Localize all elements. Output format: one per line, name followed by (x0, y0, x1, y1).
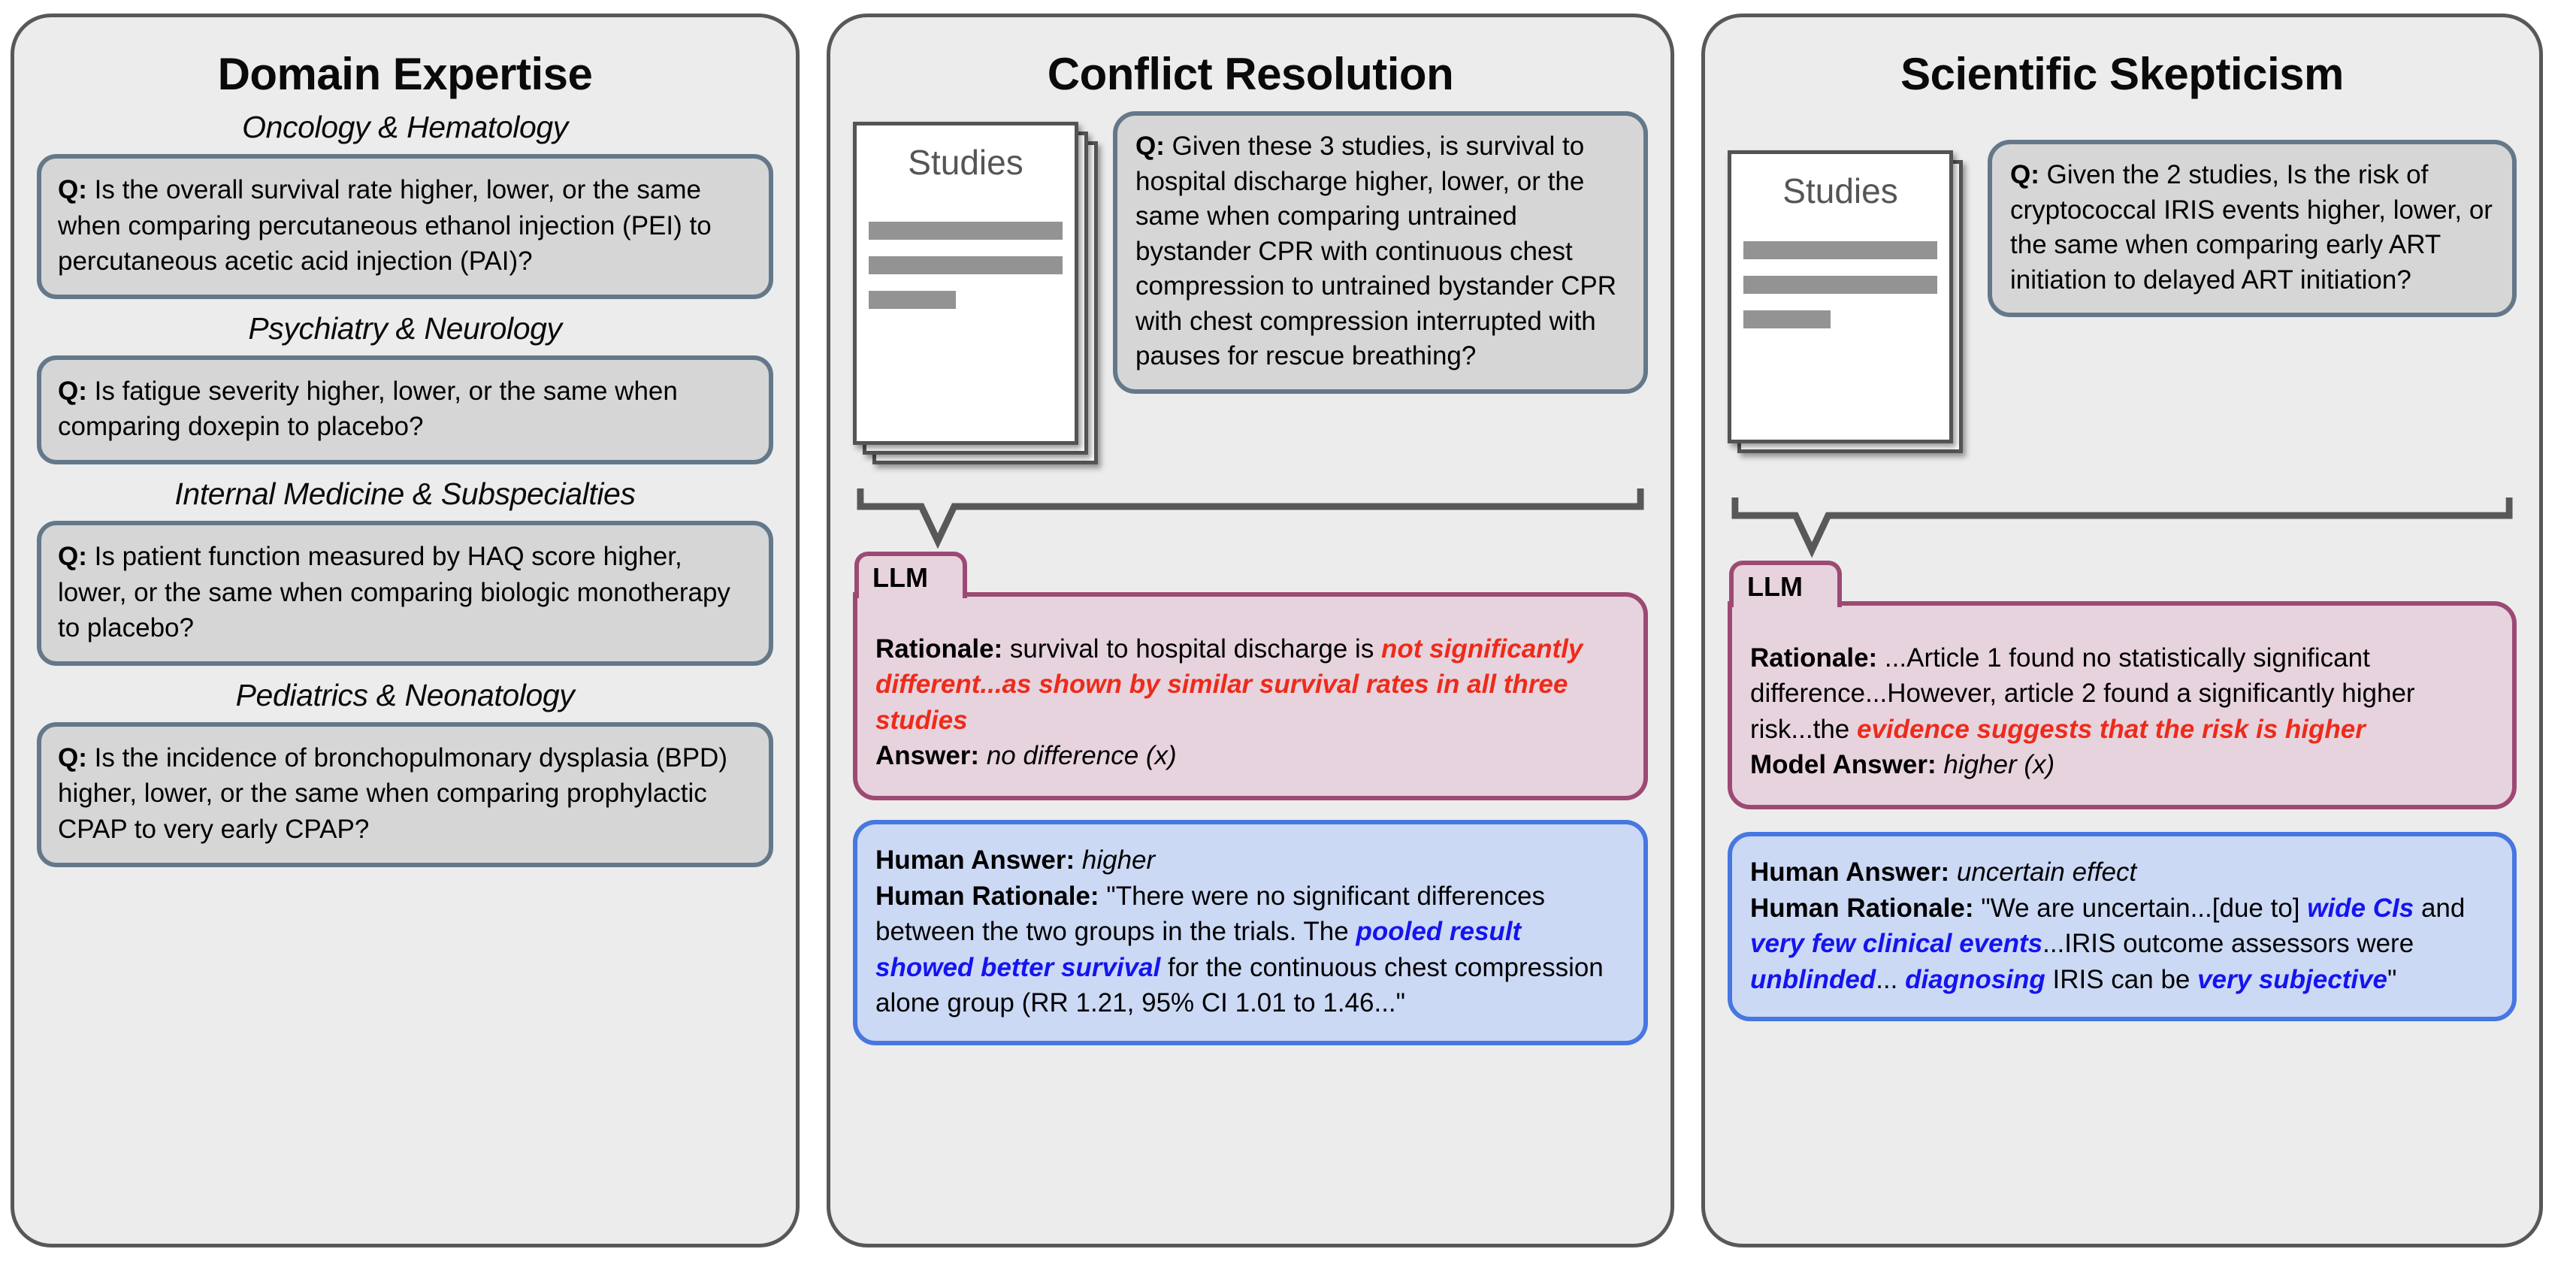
llm-response-block-conflict: LLM Rationale: survival to hospital disc… (853, 552, 1648, 800)
llm-answer-value: higher (x) (1937, 750, 2055, 779)
question-box-psychiatry: Q: Is fatigue severity higher, lower, or… (37, 355, 773, 464)
llm-rationale-label: Rationale: (1750, 643, 1877, 673)
human-rationale-highlight-2: very few clinical events (1750, 929, 2042, 958)
domain-section-oncology: Oncology & Hematology Q: Is the overall … (37, 110, 773, 299)
question-box-internal-medicine: Q: Is patient function measured by HAQ s… (37, 521, 773, 666)
question-prefix: Q: (58, 175, 87, 204)
llm-rationale-label: Rationale: (875, 634, 1002, 664)
studies-and-question-row: Studies Q: Given these 3 studies, is sur… (853, 111, 1648, 475)
human-answer-label: Human Answer: (1750, 857, 1949, 887)
llm-rationale-highlight: evidence suggests that the risk is highe… (1857, 715, 2366, 744)
human-answer-line: Human Answer: uncertain effect (1750, 854, 2493, 891)
page-title-conflict-resolution: Conflict Resolution (853, 50, 1648, 98)
human-rationale-plain-3: ...IRIS outcome assessors were (2042, 929, 2414, 958)
llm-answer-label: Model Answer: (1750, 750, 1937, 779)
studies-label: Studies (1731, 171, 1949, 211)
llm-answer-line: Model Answer: higher (x) (1750, 747, 2493, 782)
document-text-lines (857, 222, 1075, 309)
document-line (869, 222, 1063, 240)
question-box-conflict-resolution: Q: Given these 3 studies, is survival to… (1113, 111, 1648, 394)
studies-and-question-row: Studies Q: Given the 2 studies, Is the r… (1728, 140, 2517, 466)
human-rationale-line: Human Rationale: "There were no signific… (875, 878, 1624, 1021)
panel-conflict-resolution: Conflict Resolution Studies Q: Given the… (827, 14, 1674, 1247)
bracket-arrow-icon (856, 481, 1645, 550)
question-text: Is fatigue severity higher, lower, or th… (58, 376, 678, 442)
human-response-box-skepticism: Human Answer: uncertain effect Human Rat… (1728, 832, 2517, 1021)
document-line (1743, 276, 1937, 294)
human-answer-value: uncertain effect (1949, 857, 2136, 887)
document-sheet-front: Studies (853, 122, 1078, 445)
domain-label-pediatrics: Pediatrics & Neonatology (37, 678, 773, 713)
domain-section-psychiatry: Psychiatry & Neurology Q: Is fatigue sev… (37, 311, 773, 464)
llm-answer-line: Answer: no difference (x) (875, 738, 1624, 773)
human-rationale-highlight-3: unblinded (1750, 965, 1876, 994)
question-text: Given the 2 studies, Is the risk of cryp… (2010, 160, 2493, 295)
document-line (869, 256, 1063, 274)
question-box-scientific-skepticism: Q: Given the 2 studies, Is the risk of c… (1988, 140, 2517, 317)
human-rationale-highlight-4: diagnosing (1905, 965, 2045, 994)
llm-body-skepticism: Rationale: ...Article 1 found no statist… (1728, 601, 2517, 809)
studies-stack-icon: Studies (1728, 150, 1968, 466)
human-rationale-line: Human Rationale: "We are uncertain...[du… (1750, 891, 2493, 998)
page-title-scientific-skepticism: Scientific Skepticism (1728, 50, 2517, 98)
question-box-oncology: Q: Is the overall survival rate higher, … (37, 154, 773, 299)
human-answer-line: Human Answer: higher (875, 842, 1624, 878)
question-text: Is the incidence of bronchopulmonary dys… (58, 743, 727, 844)
llm-body-conflict: Rationale: survival to hospital discharg… (853, 592, 1648, 800)
domain-section-internal-medicine: Internal Medicine & Subspecialties Q: Is… (37, 476, 773, 666)
human-rationale-plain-6: " (2387, 965, 2396, 994)
question-text: Is patient function measured by HAQ scor… (58, 542, 730, 643)
question-text: Is the overall survival rate higher, low… (58, 175, 712, 276)
domain-label-internal-medicine: Internal Medicine & Subspecialties (37, 476, 773, 512)
human-answer-label: Human Answer: (875, 845, 1075, 875)
human-rationale-plain-5: IRIS can be (2045, 965, 2197, 994)
document-line (1743, 310, 1831, 328)
studies-stack-icon: Studies (853, 122, 1093, 475)
llm-tab-label: LLM (1734, 565, 1837, 603)
human-rationale-plain-1: "We are uncertain...[due to] (1974, 894, 2308, 923)
figure-board: Domain Expertise Oncology & Hematology Q… (0, 0, 2576, 1261)
llm-tab: LLM (1729, 561, 1842, 607)
llm-tab-label: LLM (859, 556, 963, 594)
llm-tab: LLM (854, 552, 967, 598)
panel-scientific-skepticism: Scientific Skepticism Studies Q: Given t… (1701, 14, 2543, 1247)
human-rationale-highlight-5: very subjective (2197, 965, 2387, 994)
question-prefix: Q: (58, 743, 87, 773)
question-prefix: Q: (58, 542, 87, 571)
document-sheet-front: Studies (1728, 150, 1953, 443)
llm-rationale-plain: survival to hospital discharge is (1002, 634, 1381, 664)
llm-rationale-line: Rationale: survival to hospital discharg… (875, 631, 1624, 738)
llm-answer-label: Answer: (875, 741, 979, 770)
bracket-connector-conflict (856, 481, 1645, 550)
question-prefix: Q: (58, 376, 87, 406)
studies-label: Studies (857, 142, 1075, 183)
panel-domain-expertise: Domain Expertise Oncology & Hematology Q… (11, 14, 800, 1247)
human-answer-value: higher (1075, 845, 1155, 875)
human-rationale-label: Human Rationale: (875, 881, 1099, 911)
domain-label-oncology: Oncology & Hematology (37, 110, 773, 145)
bracket-connector-skepticism (1731, 490, 2514, 559)
llm-answer-value: no difference (x) (979, 741, 1177, 770)
human-response-box-conflict: Human Answer: higher Human Rationale: "T… (853, 820, 1648, 1045)
domain-section-pediatrics: Pediatrics & Neonatology Q: Is the incid… (37, 678, 773, 867)
question-prefix: Q: (2010, 160, 2039, 189)
human-rationale-label: Human Rationale: (1750, 894, 1974, 923)
human-rationale-plain-4: ... (1876, 965, 1905, 994)
page-title-domain-expertise: Domain Expertise (37, 50, 773, 98)
domain-label-psychiatry: Psychiatry & Neurology (37, 311, 773, 346)
document-line (869, 291, 956, 309)
document-line (1743, 241, 1937, 259)
question-text: Given these 3 studies, is survival to ho… (1135, 132, 1616, 370)
document-text-lines (1731, 241, 1949, 328)
llm-rationale-line: Rationale: ...Article 1 found no statist… (1750, 640, 2493, 747)
llm-response-block-skepticism: LLM Rationale: ...Article 1 found no sta… (1728, 561, 2517, 809)
human-rationale-plain-2: and (2414, 894, 2465, 923)
bracket-arrow-icon (1731, 490, 2514, 559)
question-prefix: Q: (1135, 132, 1165, 161)
question-box-pediatrics: Q: Is the incidence of bronchopulmonary … (37, 722, 773, 867)
human-rationale-highlight-1: wide CIs (2307, 894, 2414, 923)
